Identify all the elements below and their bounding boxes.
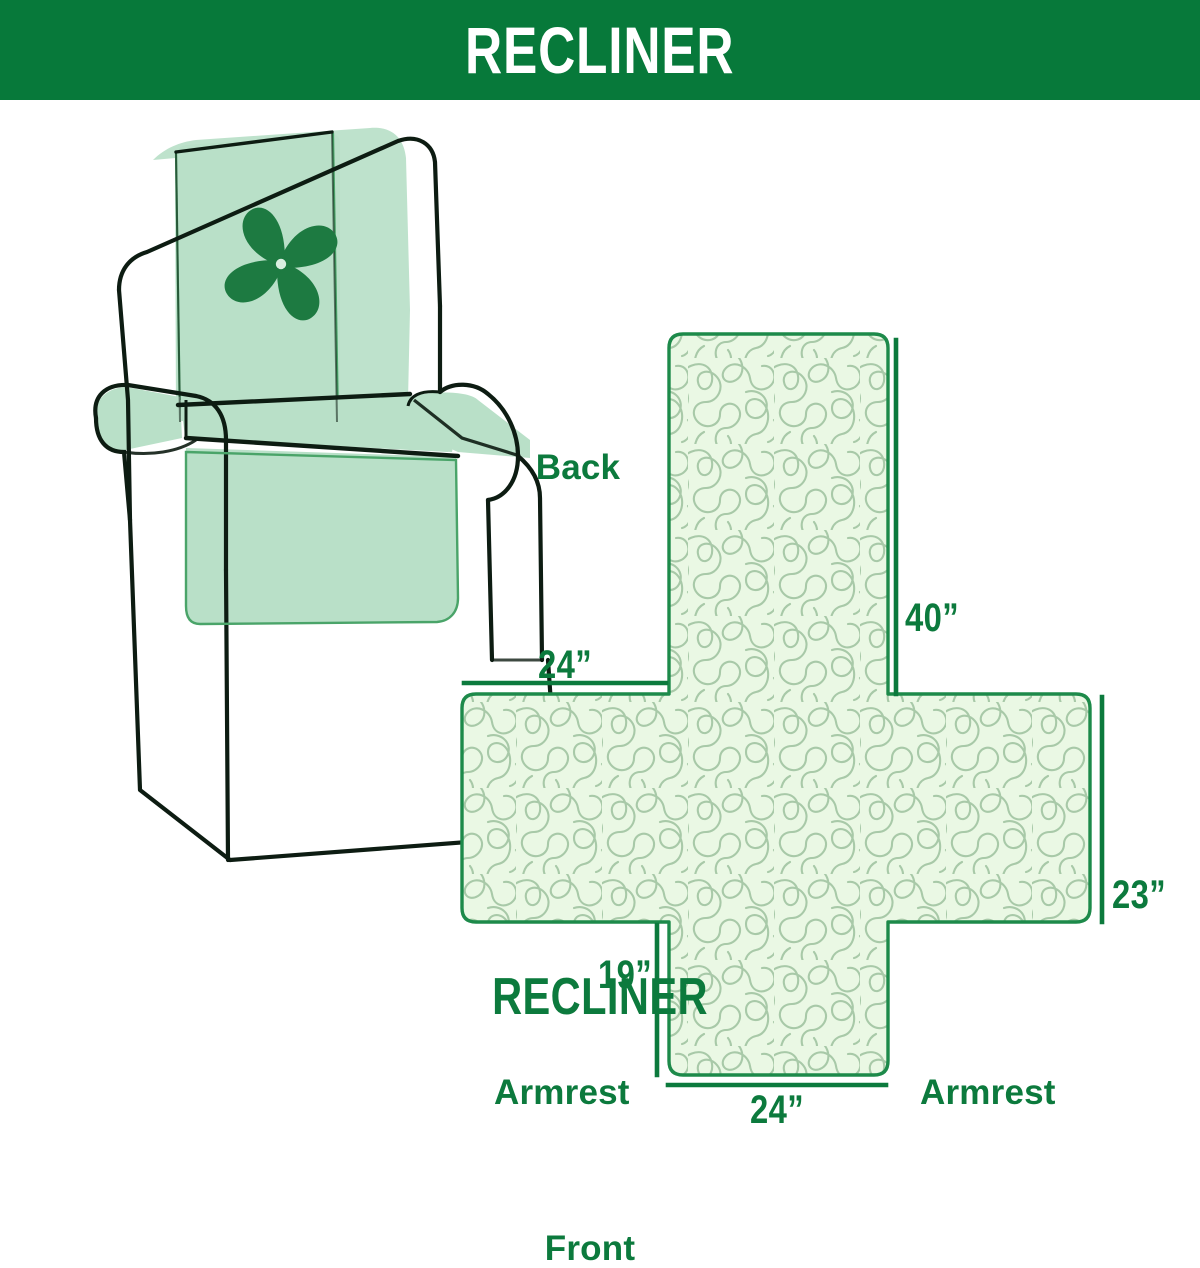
label-back: Back: [0, 450, 1200, 485]
label-armrest-left: Armrest: [494, 1075, 630, 1110]
dimension-label-armrest-width: 24”: [483, 645, 647, 685]
label-armrest-right: Armrest: [920, 1075, 1056, 1110]
dimension-label-back-height: 40”: [905, 598, 959, 638]
diagram-stage: Back RECLINER Armrest Armrest Front 40” …: [0, 100, 1200, 1200]
dimension-label-body-depth: 23”: [1112, 875, 1166, 915]
dimension-label-front-height: 19”: [598, 955, 652, 995]
label-front: Front: [0, 1231, 1200, 1266]
dimension-label-front-width: 24”: [687, 1090, 867, 1130]
header-banner: RECLINER: [0, 0, 1200, 100]
cover-outline: [462, 334, 1090, 1075]
page-title: RECLINER: [465, 17, 734, 83]
